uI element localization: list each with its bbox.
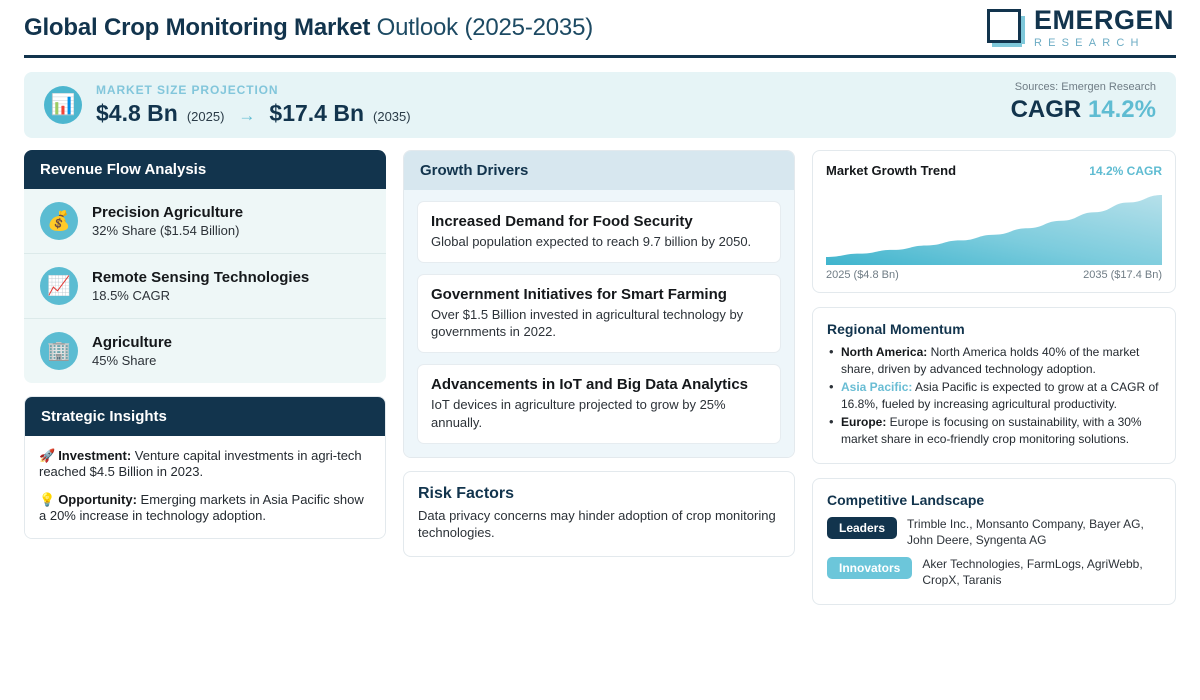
chart-increasing-icon: 📈: [40, 267, 78, 305]
growth-drivers-panel: Growth Drivers Increased Demand for Food…: [403, 150, 795, 458]
area-chart-svg: [826, 187, 1162, 265]
revenue-row-meta: 32% Share ($1.54 Billion): [92, 223, 243, 238]
growth-driver-desc: Global population expected to reach 9.7 …: [431, 233, 767, 250]
regional-momentum-panel: Regional Momentum North America: North A…: [812, 307, 1176, 464]
growth-area-chart: [826, 187, 1162, 265]
region-label: North America:: [841, 345, 927, 359]
risk-factors-title: Risk Factors: [418, 485, 780, 503]
innovators-companies: Aker Technologies, FarmLogs, AgriWebb, C…: [922, 557, 1161, 588]
market-size-end-year: (2035): [373, 109, 411, 124]
market-size-label: MARKET SIZE PROJECTION: [96, 83, 411, 97]
sources-note: Sources: Emergen Research: [1011, 81, 1156, 93]
logo-brand-sub: RESEARCH: [1034, 38, 1174, 49]
risk-factors-desc: Data privacy concerns may hinder adoptio…: [418, 507, 780, 541]
market-size-end-value: $17.4 Bn: [269, 100, 364, 127]
competitive-row: Innovators Aker Technologies, FarmLogs, …: [827, 557, 1161, 588]
leaders-badge: Leaders: [827, 517, 897, 539]
insight-item: 🚀Investment: Venture capital investments…: [39, 448, 371, 481]
cagr-label: CAGR: [1011, 96, 1082, 123]
cagr-highlight: CAGR 14.2%: [1011, 96, 1156, 124]
market-size-start-year: (2025): [187, 109, 225, 124]
page-title: Global Crop Monitoring Market Outlook (2…: [24, 14, 593, 42]
content-grid: Revenue Flow Analysis 💰 Precision Agricu…: [24, 150, 1176, 605]
region-item: North America: North America holds 40% o…: [827, 344, 1161, 377]
growth-driver-card[interactable]: Advancements in IoT and Big Data Analyti…: [417, 364, 781, 443]
revenue-row[interactable]: 📈 Remote Sensing Technologies 18.5% CAGR: [24, 254, 386, 319]
growth-driver-desc: Over $1.5 Billion invested in agricultur…: [431, 306, 767, 340]
competitive-landscape-panel: Competitive Landscape Leaders Trimble In…: [812, 478, 1176, 604]
market-growth-trend-card: Market Growth Trend 14.2% CAGR: [812, 150, 1176, 293]
chart-cagr-annotation: 14.2% CAGR: [1089, 164, 1162, 178]
page-title-strong: Global Crop Monitoring Market: [24, 14, 370, 41]
revenue-row-name: Agriculture: [92, 334, 172, 351]
growth-driver-card[interactable]: Government Initiatives for Smart Farming…: [417, 274, 781, 353]
regional-momentum-title: Regional Momentum: [827, 321, 1161, 337]
logo-brand-name: EMERGEN: [1034, 7, 1174, 34]
competitive-row: Leaders Trimble Inc., Monsanto Company, …: [827, 517, 1161, 548]
lightbulb-icon: 💡: [39, 492, 55, 507]
growth-driver-card[interactable]: Increased Demand for Food Security Globa…: [417, 201, 781, 263]
revenue-row-meta: 18.5% CAGR: [92, 288, 309, 303]
growth-driver-desc: IoT devices in agriculture projected to …: [431, 396, 767, 430]
region-text: Europe is focusing on sustainability, wi…: [841, 415, 1142, 446]
revenue-row[interactable]: 🏢 Agriculture 45% Share: [24, 319, 386, 383]
growth-drivers-heading: Growth Drivers: [404, 151, 794, 190]
insight-label: Investment:: [58, 448, 131, 463]
center-column: Growth Drivers Increased Demand for Food…: [403, 150, 795, 557]
growth-driver-title: Increased Demand for Food Security: [431, 213, 767, 230]
growth-driver-title: Government Initiatives for Smart Farming: [431, 286, 767, 303]
revenue-row[interactable]: 💰 Precision Agriculture 32% Share ($1.54…: [24, 189, 386, 254]
infographic-page: Global Crop Monitoring Market Outlook (2…: [0, 0, 1200, 700]
page-title-light: Outlook (2025-2035): [377, 14, 593, 41]
chart-tick-end: 2035 ($17.4 Bn): [1083, 269, 1162, 281]
strategic-insights-panel: Strategic Insights 🚀Investment: Venture …: [24, 396, 386, 539]
page-header: Global Crop Monitoring Market Outlook (2…: [24, 0, 1176, 58]
rocket-icon: 🚀: [39, 448, 55, 463]
leaders-companies: Trimble Inc., Monsanto Company, Bayer AG…: [907, 517, 1161, 548]
region-item: Europe: Europe is focusing on sustainabi…: [827, 414, 1161, 447]
revenue-flow-panel: Revenue Flow Analysis 💰 Precision Agricu…: [24, 150, 386, 383]
money-bag-icon: 💰: [40, 202, 78, 240]
chart-title: Market Growth Trend: [826, 163, 956, 178]
arrow-right-icon: →: [233, 106, 260, 126]
strategic-insights-heading: Strategic Insights: [25, 397, 385, 436]
emergen-research-logo: EMERGEN RESEARCH: [987, 7, 1176, 49]
revenue-row-name: Remote Sensing Technologies: [92, 269, 309, 286]
revenue-row-meta: 45% Share: [92, 353, 172, 368]
risk-factors-panel: Risk Factors Data privacy concerns may h…: [403, 471, 795, 557]
region-label: Europe:: [841, 415, 886, 429]
market-size-start-value: $4.8 Bn: [96, 100, 178, 127]
chart-tick-start: 2025 ($4.8 Bn): [826, 269, 899, 281]
bar-chart-icon: 📊: [44, 86, 82, 124]
insight-item: 💡Opportunity: Emerging markets in Asia P…: [39, 492, 371, 525]
competitive-landscape-title: Competitive Landscape: [827, 492, 1161, 508]
logo-square-icon: [987, 9, 1025, 47]
region-item: Asia Pacific: Asia Pacific is expected t…: [827, 379, 1161, 412]
revenue-row-name: Precision Agriculture: [92, 204, 243, 221]
insight-label: Opportunity:: [58, 492, 137, 507]
revenue-flow-heading: Revenue Flow Analysis: [24, 150, 386, 189]
left-column: Revenue Flow Analysis 💰 Precision Agricu…: [24, 150, 386, 539]
right-column: Market Growth Trend 14.2% CAGR: [812, 150, 1176, 605]
office-building-icon: 🏢: [40, 332, 78, 370]
region-label: Asia Pacific:: [841, 380, 912, 394]
market-size-band: 📊 MARKET SIZE PROJECTION $4.8 Bn (2025) …: [24, 72, 1176, 138]
innovators-badge: Innovators: [827, 557, 912, 579]
growth-driver-title: Advancements in IoT and Big Data Analyti…: [431, 376, 767, 393]
cagr-value: 14.2%: [1088, 96, 1156, 123]
